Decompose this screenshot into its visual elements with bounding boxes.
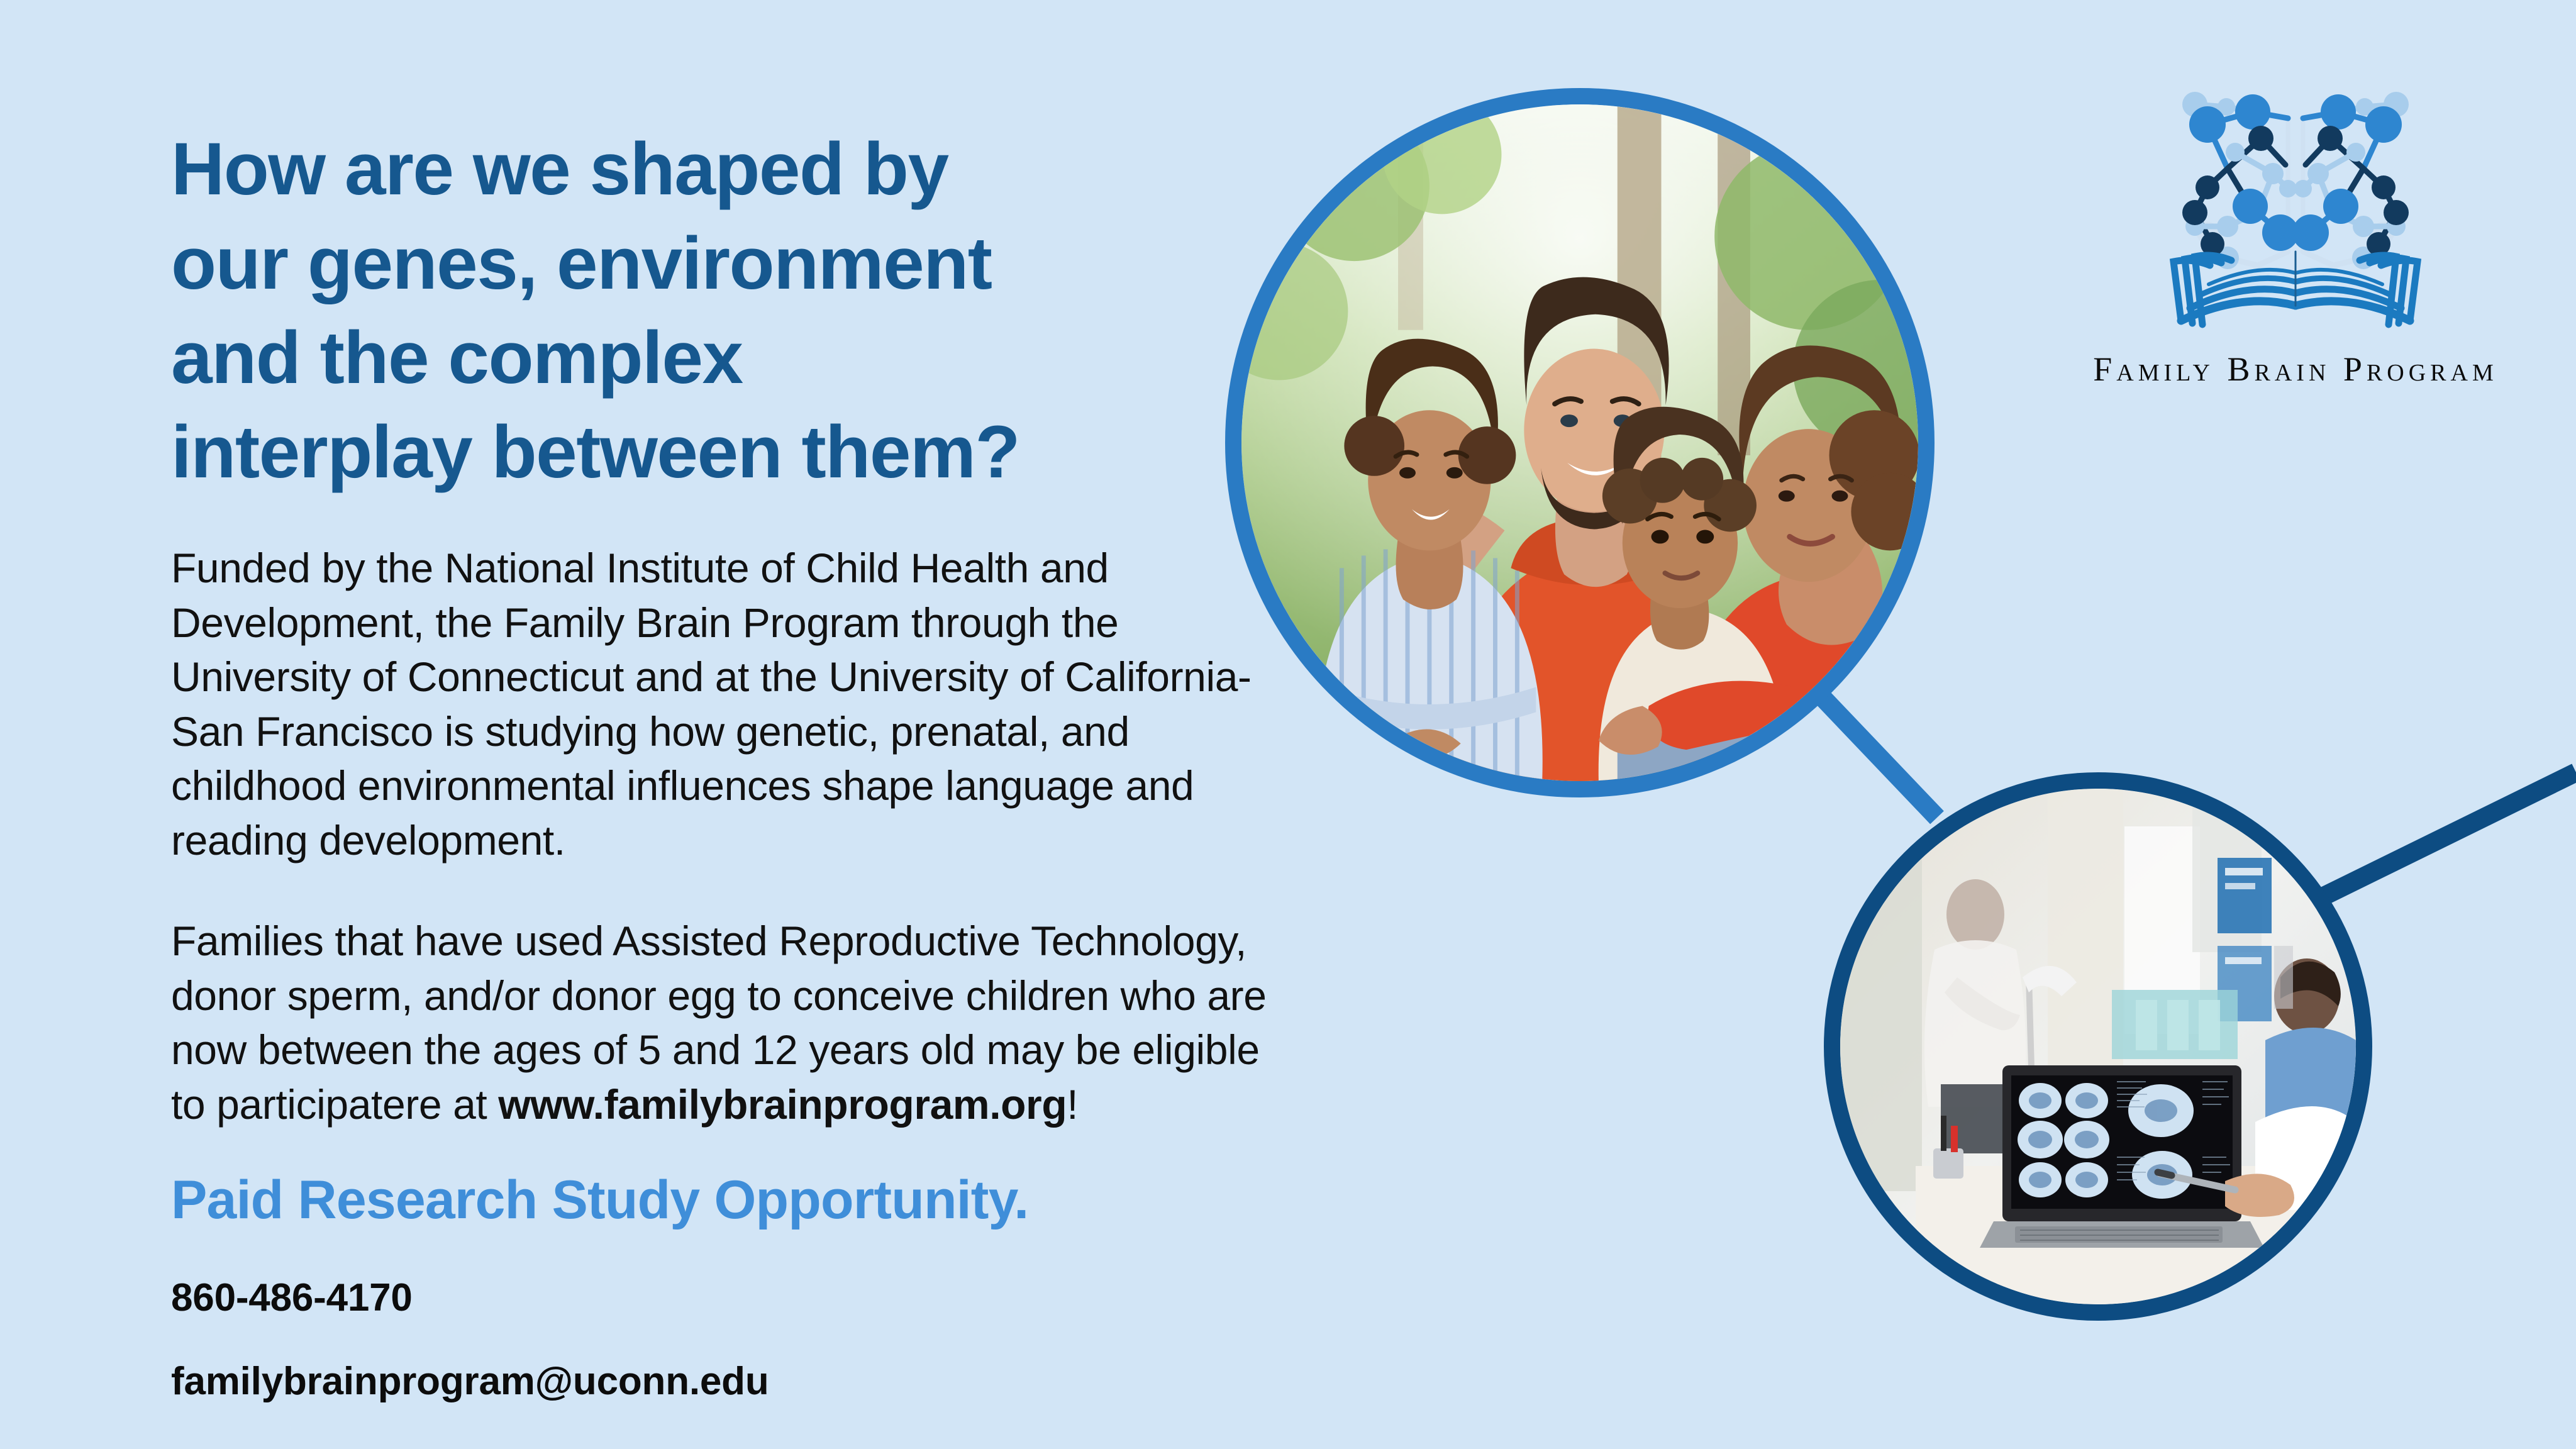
poster-canvas: How are we shaped by our genes, environm… bbox=[0, 0, 2576, 1449]
logo-wordmark: Family Brain Program bbox=[2075, 350, 2516, 389]
family-photo bbox=[1241, 104, 1918, 781]
funding-paragraph: Funded by the National Institute of Chil… bbox=[171, 541, 1278, 867]
connector-family-to-mri bbox=[1809, 683, 1937, 818]
eligibility-paragraph: Families that have used Assisted Reprodu… bbox=[171, 914, 1278, 1131]
content-column: How are we shaped by our genes, environm… bbox=[171, 123, 1278, 1443]
mri-photo bbox=[1840, 789, 2356, 1304]
study-website-link[interactable]: www.familybrainprogram.org bbox=[498, 1081, 1067, 1128]
family-brain-program-logo: Family Brain Program bbox=[2075, 44, 2516, 389]
family-photo-circle bbox=[1225, 88, 1935, 797]
eligibility-tail-text: ! bbox=[1067, 1081, 1078, 1128]
paid-study-tagline: Paid Research Study Opportunity. bbox=[171, 1169, 1278, 1231]
page-title: How are we shaped by our genes, environm… bbox=[171, 123, 1278, 499]
brain-book-icon bbox=[2132, 44, 2459, 346]
contact-phone[interactable]: 860-486-4170 bbox=[171, 1275, 1278, 1320]
contact-email[interactable]: familybrainprogram@uconn.edu bbox=[171, 1359, 1278, 1404]
mri-photo-circle bbox=[1824, 772, 2372, 1321]
connector-mri-to-right-edge bbox=[2289, 772, 2576, 913]
